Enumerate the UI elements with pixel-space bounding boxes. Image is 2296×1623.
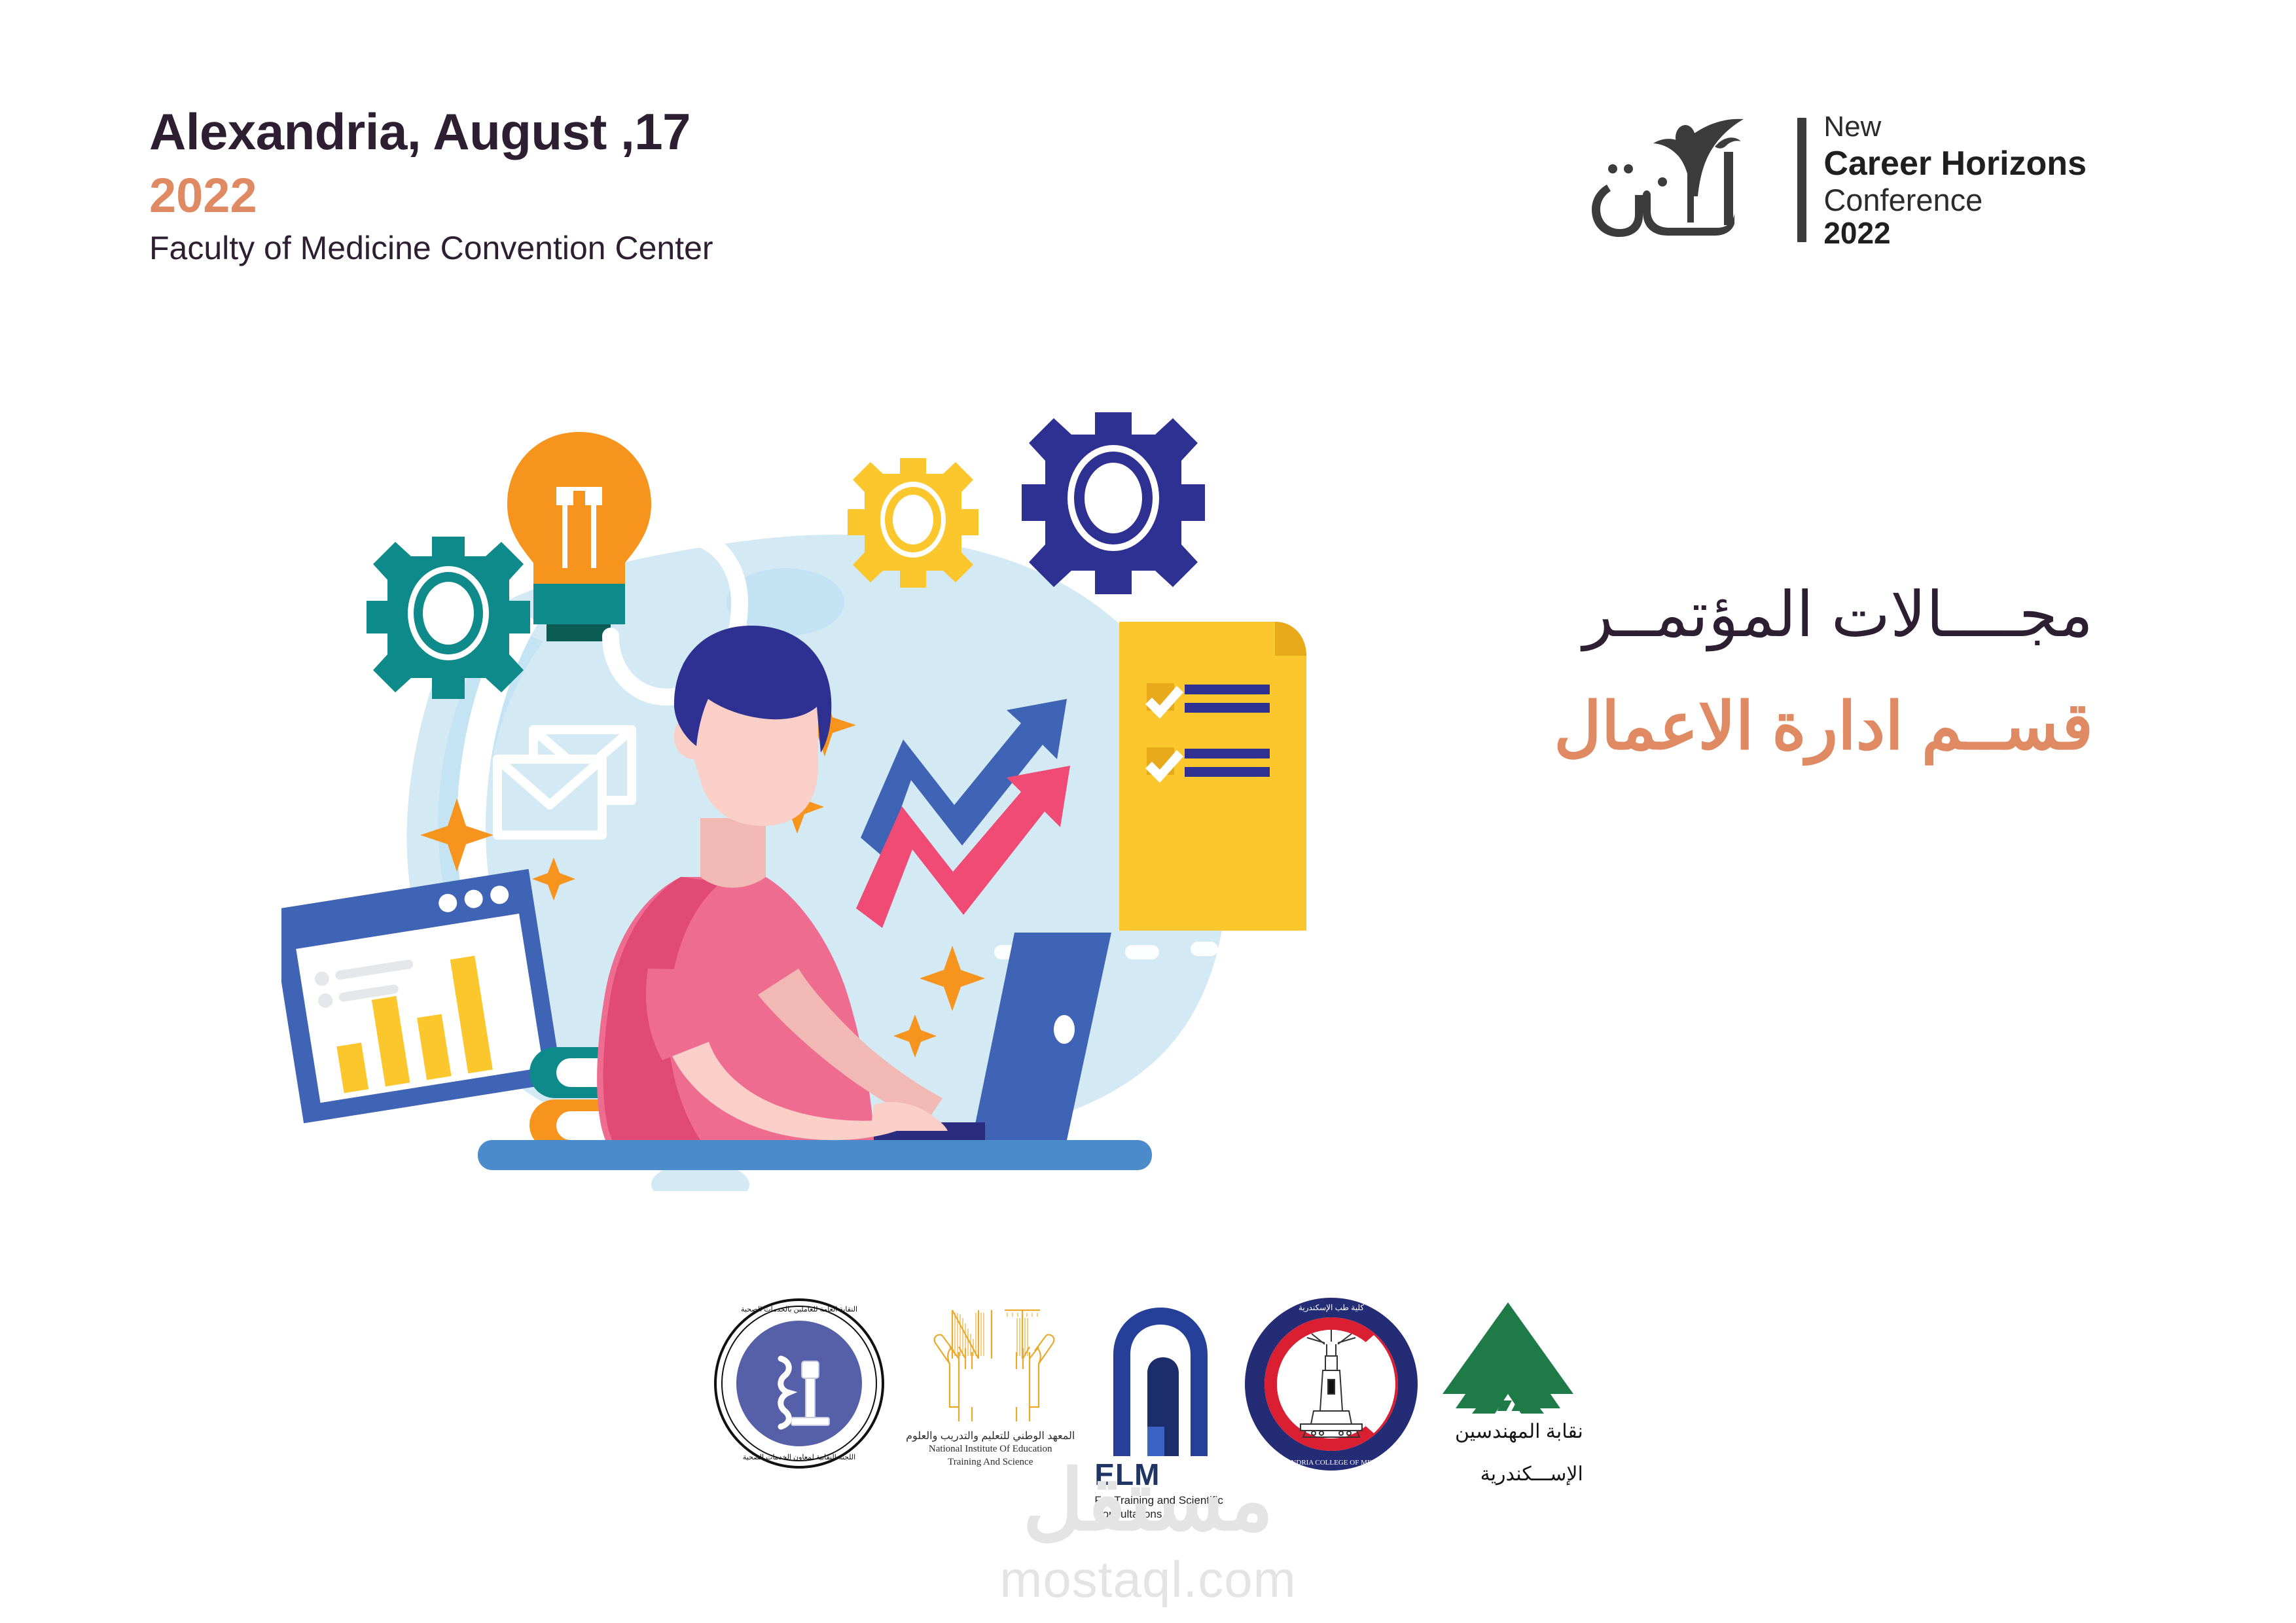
svg-text:اللجنة النقابية لمعاون الخدمات: اللجنة النقابية لمعاون الخدمات الصحية	[743, 1454, 855, 1461]
arabic-section-title: مجــــالات المؤتمــر	[1321, 576, 2093, 654]
logo-wordmark-text: New Career Horizons Conference 2022	[1823, 113, 2087, 248]
arabic-department-name: قســم ادارة الاعمال	[1321, 686, 2093, 768]
engineers-syndicate-icon	[1439, 1296, 1583, 1420]
desk-surface	[478, 1140, 1152, 1170]
alexandria-medicine-seal-icon: كلية طب الإسكندرية ALEXANDRIA COLLEGE OF…	[1243, 1296, 1420, 1472]
elm-title: ELM	[1094, 1459, 1223, 1489]
nit-caption-arabic: المعهد الوطني للتعليم والتدريب والعلوم	[906, 1429, 1075, 1442]
nit-hands-icon	[918, 1296, 1062, 1427]
engineers-syndicate-line2: الإســـكندرية	[1455, 1463, 1583, 1486]
event-location-date: Alexandria, August ,17	[149, 105, 713, 159]
checklist-document-icon	[1119, 622, 1306, 931]
sponsor-nit-institute: المعهد الوطني للتعليم والتدريب والعلوم N…	[906, 1296, 1075, 1469]
svg-text:النقابة العامة للعاملين بالخدم: النقابة العامة للعاملين بالخدمات الصحية	[741, 1306, 857, 1313]
logo-text-conf: Conference	[1823, 185, 2087, 215]
sponsor-health-services-syndicate: النقابة العامة للعاملين بالخدمات الصحية …	[713, 1296, 886, 1471]
logo-text-year: 2022	[1823, 218, 2087, 248]
elm-arch-icon	[1100, 1296, 1218, 1459]
yellow-gear-icon	[848, 458, 978, 588]
poster-canvas: Alexandria, August ,17 2022 Faculty of M…	[0, 0, 2296, 1623]
hero-illustration	[281, 340, 1329, 1191]
sponsor-alexandria-college-of-medicine: كلية طب الإسكندرية ALEXANDRIA COLLEGE OF…	[1243, 1296, 1420, 1472]
navy-gear-icon	[1022, 412, 1205, 594]
nit-caption-en-line1: National Institute Of Education	[929, 1442, 1052, 1455]
conference-tracks-block: مجــــالات المؤتمــر قســم ادارة الاعمال	[1321, 576, 2093, 768]
conference-logo: New Career Horizons Conference 2022	[1579, 111, 2087, 249]
logo-text-main: Career Horizons	[1823, 147, 2087, 181]
sponsor-engineers-syndicate-alexandria: نقابة المهندسين الإســـكندرية	[1439, 1296, 1583, 1486]
teal-gear-icon	[367, 537, 530, 699]
elm-subtitle-line1: For Training and Scientific	[1094, 1493, 1223, 1507]
afaq-arabic-wordmark-icon	[1579, 111, 1795, 249]
nit-caption-en-line2: Training And Science	[948, 1455, 1033, 1469]
sponsor-logos-row: النقابة العامة للعاملين بالخدمات الصحية …	[0, 1296, 2296, 1522]
bar-chart-window-icon	[281, 869, 562, 1124]
alex-seal-english: ALEXANDRIA COLLEGE OF MEDICINE	[1266, 1459, 1396, 1467]
logo-text-new: New	[1823, 113, 2087, 141]
event-year: 2022	[149, 167, 713, 225]
logo-divider	[1797, 118, 1806, 242]
sponsor-elm-training: ELM For Training and Scientific Consulta…	[1094, 1296, 1223, 1522]
elm-subtitle-line2: Consultations	[1094, 1507, 1223, 1521]
alex-seal-arabic: كلية طب الإسكندرية	[1299, 1303, 1364, 1313]
watermark-url: mostaql.com	[853, 1554, 1443, 1605]
health-syndicate-seal-icon: النقابة العامة للعاملين بالخدمات الصحية …	[713, 1296, 886, 1471]
event-info-block: Alexandria, August ,17 2022 Faculty of M…	[149, 105, 713, 268]
poster-header: Alexandria, August ,17 2022 Faculty of M…	[0, 0, 2296, 301]
engineers-syndicate-line1: نقابة المهندسين	[1455, 1420, 1583, 1443]
event-venue: Faculty of Medicine Convention Center	[149, 228, 713, 268]
